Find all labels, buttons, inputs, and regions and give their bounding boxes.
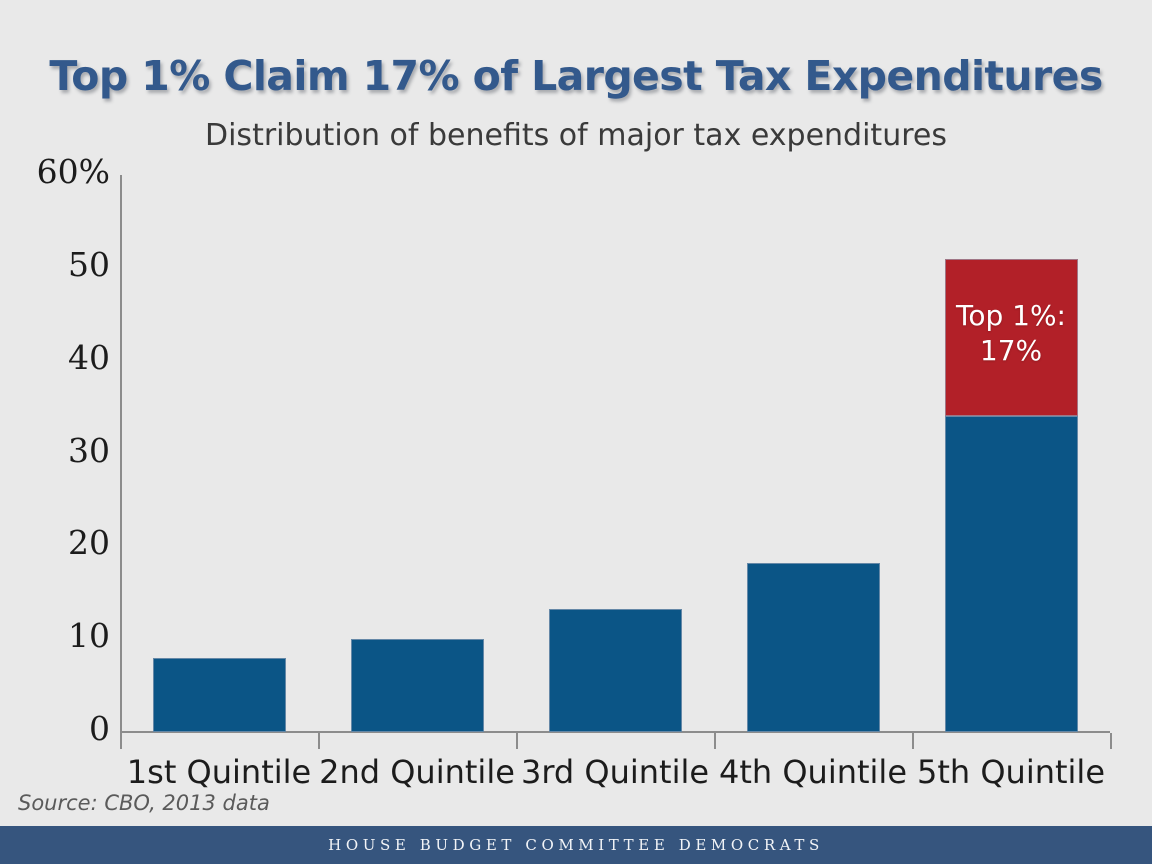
bar-annotation: Top 1%: 17% bbox=[946, 299, 1077, 368]
x-axis-separator bbox=[120, 733, 122, 749]
x-axis-separator bbox=[714, 733, 716, 749]
chart-subtitle: Distribution of benefits of major tax ex… bbox=[0, 118, 1152, 153]
y-tick-label: 0 bbox=[0, 709, 110, 748]
bar-annotation-line2: 17% bbox=[980, 334, 1042, 367]
slide-canvas: Top 1% Claim 17% of Largest Tax Expendit… bbox=[0, 0, 1152, 864]
y-tick-label: 40 bbox=[0, 338, 110, 377]
x-tick-label: 3rd Quintile bbox=[516, 753, 714, 791]
y-tick-label: 60% bbox=[0, 152, 110, 191]
y-tick-label: 30 bbox=[0, 431, 110, 470]
bar-group[interactable]: Top 1%: 17% bbox=[153, 175, 286, 732]
x-tick-label: 2nd Quintile bbox=[318, 753, 516, 791]
bar-group[interactable]: Top 1%: 17% bbox=[351, 175, 484, 732]
y-tick-label: 20 bbox=[0, 523, 110, 562]
bar-group[interactable]: Top 1%: 17% bbox=[945, 175, 1078, 732]
x-axis-separator bbox=[1110, 733, 1112, 749]
x-tick-label: 4th Quintile bbox=[714, 753, 912, 791]
bar-segment-red[interactable]: Top 1%: 17% bbox=[945, 259, 1078, 417]
source-note: Source: CBO, 2013 data bbox=[18, 791, 270, 815]
x-axis-separator bbox=[516, 733, 518, 749]
bar-annotation-line1: Top 1%: bbox=[956, 299, 1066, 332]
bar-group[interactable]: Top 1%: 17% bbox=[549, 175, 682, 732]
bar-segment-blue[interactable] bbox=[747, 563, 880, 732]
y-tick-label: 10 bbox=[0, 616, 110, 655]
plot-area: Top 1%: 17% Top 1%: 17% Top 1%: 17% bbox=[120, 175, 1110, 732]
footer-text: HOUSE BUDGET COMMITTEE DEMOCRATS bbox=[0, 826, 1152, 864]
y-tick-label: 50 bbox=[0, 245, 110, 284]
x-tick-label: 5th Quintile bbox=[912, 753, 1110, 791]
bar-segment-blue[interactable] bbox=[945, 416, 1078, 732]
bar-group[interactable]: Top 1%: 17% bbox=[747, 175, 880, 732]
bar-segment-blue[interactable] bbox=[153, 658, 286, 732]
bar-segment-blue[interactable] bbox=[549, 609, 682, 732]
footer-bar: HOUSE BUDGET COMMITTEE DEMOCRATS bbox=[0, 826, 1152, 864]
bar-segment-blue[interactable] bbox=[351, 639, 484, 732]
x-axis-separator bbox=[318, 733, 320, 749]
x-tick-label: 1st Quintile bbox=[120, 753, 318, 791]
x-axis-separator bbox=[912, 733, 914, 749]
chart-title: Top 1% Claim 17% of Largest Tax Expendit… bbox=[0, 52, 1152, 100]
